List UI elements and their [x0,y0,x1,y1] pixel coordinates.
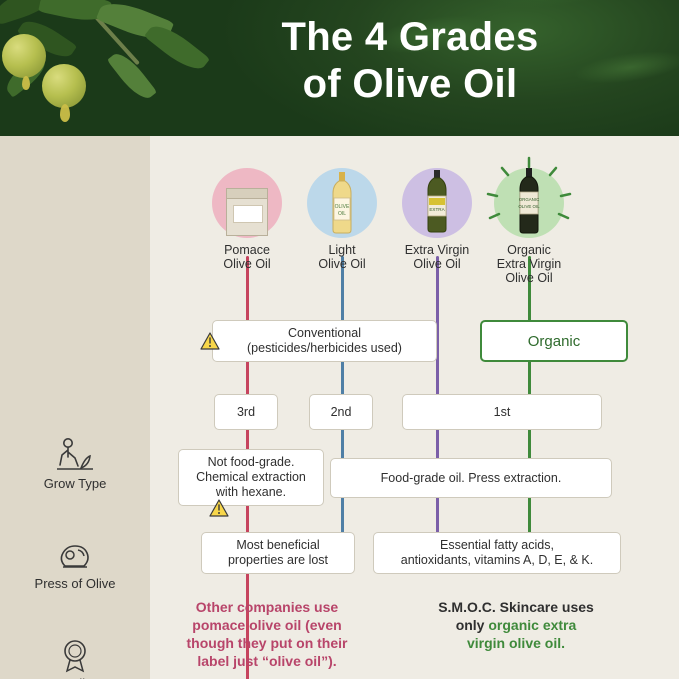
product-name-line2: Olive Oil [318,257,365,271]
extra-virgin-olive-oil-bottle: EXTRA [424,170,450,234]
organic-label: Organic [528,334,581,349]
category-press-of-olive: Press of Olive [0,536,150,603]
footer-left-line4: label just “olive oil”). [197,653,336,669]
product-blob: OLIVE OIL [307,168,377,238]
category-label: Press of Olive [0,576,150,591]
header-banner: The 4 Grades of Olive Oil [0,0,679,136]
pomace-box-package [226,188,268,236]
product-name-line1: Pomace [224,243,270,257]
footer-left-line1: Other companies use [196,599,338,615]
category-quality: Quality [0,636,150,679]
footer-left-line2: pomace olive oil (even [192,617,341,633]
footer-right-line2-pre: only [456,617,489,633]
pill-quality-bad: Not food-grade. Chemical extraction with… [178,449,324,506]
pill-skin-good: Essential fatty acids, antioxidants, vit… [373,532,621,574]
product-light: OLIVE OIL Light Olive Oil [302,168,382,271]
title-line-1: The 4 Grades [281,15,538,59]
title-line-2: of Olive Oil [150,61,670,108]
category-list: Grow Type Press of Olive Quality [0,436,150,679]
product-name: Pomace Olive Oil [207,243,287,271]
light-olive-oil-bottle: OLIVE OIL [329,172,355,234]
press-3rd-label: 3rd [237,405,255,420]
left-category-panel: Grow Type Press of Olive Quality [0,136,150,679]
conventional-line1: Conventional [288,326,361,341]
svg-text:OLIVE: OLIVE [335,204,350,210]
skin-good-line1: Essential fatty acids, [440,538,554,553]
footer-left-text: Other companies use pomace olive oil (ev… [172,598,362,670]
press-1st-label: 1st [494,405,511,420]
product-name-line2: Extra Virgin [497,257,561,271]
plant-grow-icon [53,436,97,474]
pill-press-1st: 1st [402,394,602,430]
pill-conventional: Conventional (pesticides/herbicides used… [212,320,437,362]
product-name-line2: Olive Oil [413,257,460,271]
product-name-line2: Olive Oil [223,257,270,271]
product-organic-extra-virgin: ORGANIC OLIVE OIL O [489,168,569,285]
product-blob: EXTRA [402,168,472,238]
footer-right-text: S.M.O.C. Skincare uses only organic extr… [403,598,629,652]
footer-right-line1: S.M.O.C. Skincare uses [438,599,594,615]
product-name: Light Olive Oil [302,243,382,271]
warning-triangle-icon [200,332,220,350]
product-name-line3: Olive Oil [505,271,552,285]
skin-bad-line2: properties are lost [228,553,328,568]
category-label: Grow Type [0,476,150,491]
skin-good-line2: antioxidants, vitamins A, D, E, & K. [401,553,593,568]
pill-skin-bad: Most beneficial properties are lost [201,532,355,574]
quality-bad-line3: with hexane. [216,485,286,500]
main-diagram: Pomace Olive Oil OLIVE OIL Light Olive O… [150,136,679,679]
product-name: Extra Virgin Olive Oil [397,243,477,271]
olive-press-icon [53,536,97,574]
category-grow-type: Grow Type [0,436,150,503]
conventional-line2: (pesticides/herbicides used) [247,341,402,356]
warning-triangle-icon [209,499,229,517]
pill-organic: Organic [480,320,628,362]
footer-right-line3-green: virgin olive oil. [467,635,565,651]
infographic-page: The 4 Grades of Olive Oil Grow Type [0,0,679,679]
pill-quality-good: Food-grade oil. Press extraction. [330,458,612,498]
product-blob: ORGANIC OLIVE OIL [494,168,564,238]
page-title: The 4 Grades of Olive Oil [150,14,670,108]
pill-press-2nd: 2nd [309,394,373,430]
footer-left-line3: though they put on their [187,635,348,651]
pill-press-3rd: 3rd [214,394,278,430]
skin-bad-line1: Most beneficial [236,538,319,553]
quality-bad-line2: Chemical extraction [196,470,306,485]
footer-right-line2-green: organic extra [488,617,576,633]
product-name-line1: Light [328,243,355,257]
svg-text:EXTRA: EXTRA [429,207,445,212]
product-extra-virgin: EXTRA Extra Virgin Olive Oil [397,168,477,271]
quality-bad-line1: Not food-grade. [208,455,295,470]
quality-seal-icon [53,636,97,674]
press-2nd-label: 2nd [331,405,352,420]
product-name-line1: Extra Virgin [405,243,469,257]
product-pomace: Pomace Olive Oil [207,168,287,271]
quality-good-label: Food-grade oil. Press extraction. [381,471,562,486]
svg-text:OIL: OIL [338,211,346,217]
product-blob [212,168,282,238]
sunburst-rays-icon [482,156,576,250]
